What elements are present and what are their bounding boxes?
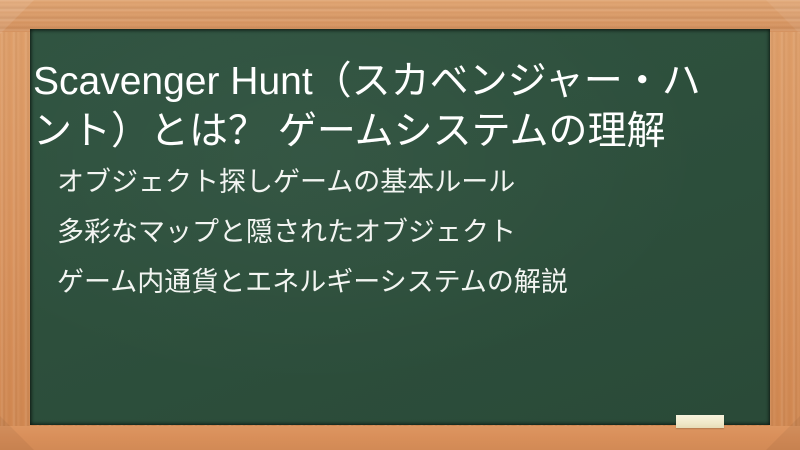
list-item: オブジェクト探しゲームの基本ルール <box>57 157 747 207</box>
chalkboard-surface: Scavenger Hunt（スカベンジャー・ハント）とは？ ゲームシステムの理… <box>30 29 770 425</box>
list-item: 多彩なマップと隠されたオブジェクト <box>57 207 747 257</box>
wood-frame-top-rail <box>0 0 800 32</box>
board-bullet-list: オブジェクト探しゲームの基本ルール 多彩なマップと隠されたオブジェクト ゲーム内… <box>57 157 747 307</box>
list-item: ゲーム内通貨とエネルギーシステムの解説 <box>57 257 747 307</box>
blackboard-scene: Scavenger Hunt（スカベンジャー・ハント）とは？ ゲームシステムの理… <box>0 0 800 450</box>
board-title: Scavenger Hunt（スカベンジャー・ハント）とは？ ゲームシステムの理… <box>33 57 733 157</box>
chalk-ledge <box>0 426 800 450</box>
chalk-stick <box>676 415 724 428</box>
